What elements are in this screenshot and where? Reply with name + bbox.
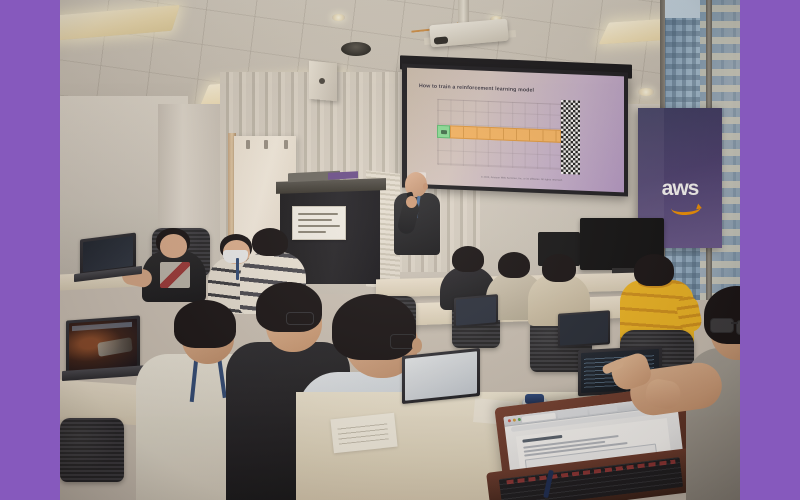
smoke-detector-icon xyxy=(341,42,371,56)
attendee-hair xyxy=(332,294,416,360)
attendee-hair xyxy=(542,254,576,282)
flipchart-clip xyxy=(284,140,288,149)
slide-title: How to train a reinforcement learning mo… xyxy=(419,83,534,94)
flipchart-clip xyxy=(264,140,268,149)
ceiling-downlight xyxy=(332,14,345,21)
lectern-sign xyxy=(292,206,346,240)
sign-text-line xyxy=(298,219,332,221)
sign-text-line xyxy=(298,231,326,233)
start-cell xyxy=(437,125,450,139)
presentation-slide: How to train a reinforcement learning mo… xyxy=(407,68,624,193)
projector-lens-icon xyxy=(434,36,449,44)
slide-track-grid xyxy=(437,99,587,171)
attendee-hair xyxy=(452,246,484,272)
presenter-ear xyxy=(423,183,428,190)
attendee-head xyxy=(160,234,187,258)
attendee-hair xyxy=(174,300,236,348)
attendee-hair xyxy=(498,252,530,278)
sign-text-line xyxy=(298,225,340,227)
attendee-hair xyxy=(634,254,674,286)
attendee-lanyard xyxy=(236,258,239,280)
speaker-driver-icon xyxy=(319,78,325,84)
attendee-ear xyxy=(412,338,422,353)
workshop-photograph: aws How to train a reinforcement learnin… xyxy=(60,0,740,500)
flipchart-clip xyxy=(246,140,250,149)
laptop-screen xyxy=(560,312,608,345)
presenter-hand xyxy=(406,196,417,208)
slide-copyright: © 2023, Amazon Web Services, Inc. or its… xyxy=(481,176,563,182)
laptop-screen xyxy=(405,351,477,401)
aws-wordmark: aws xyxy=(638,178,722,199)
photo-frame: aws How to train a reinforcement learnin… xyxy=(0,0,800,500)
laptop-screen xyxy=(456,296,496,325)
eyeglasses-bridge-icon xyxy=(731,322,738,324)
car-icon xyxy=(441,129,447,133)
finish-line-checker xyxy=(561,100,580,175)
attendee-hair xyxy=(252,228,288,256)
laptop-screen xyxy=(83,236,133,272)
office-chair xyxy=(60,418,124,482)
tshirt-graphic xyxy=(160,262,190,288)
eyeglasses-icon xyxy=(286,312,314,325)
eyeglasses-icon xyxy=(710,318,734,333)
ceiling-downlight xyxy=(638,88,654,96)
sign-text-line xyxy=(298,213,338,215)
